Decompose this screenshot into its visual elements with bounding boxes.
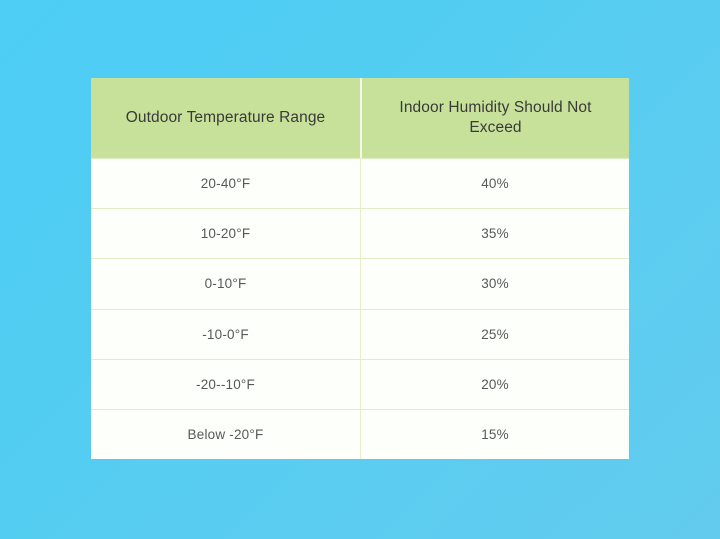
cell-humidity-value: 30% xyxy=(360,259,629,308)
humidity-guidance-table: Outdoor Temperature Range Indoor Humidit… xyxy=(91,78,629,459)
cell-temperature-range: 0-10°F xyxy=(91,259,360,308)
cell-temperature-range: -10-0°F xyxy=(91,310,360,359)
cell-temperature-range: 20-40°F xyxy=(91,159,360,208)
table-row: -20--10°F 20% xyxy=(91,359,629,409)
table-row: 20-40°F 40% xyxy=(91,158,629,208)
cell-temperature-range: Below -20°F xyxy=(91,410,360,459)
table-header-row: Outdoor Temperature Range Indoor Humidit… xyxy=(91,78,629,158)
cell-humidity-value: 25% xyxy=(360,310,629,359)
table-row: Below -20°F 15% xyxy=(91,409,629,459)
cell-humidity-value: 40% xyxy=(360,159,629,208)
table-row: 0-10°F 30% xyxy=(91,258,629,308)
table-row: -10-0°F 25% xyxy=(91,309,629,359)
column-header-indoor-humidity: Indoor Humidity Should Not Exceed xyxy=(360,78,629,158)
cell-humidity-value: 35% xyxy=(360,209,629,258)
slide-canvas: Outdoor Temperature Range Indoor Humidit… xyxy=(0,0,720,539)
cell-humidity-value: 20% xyxy=(360,360,629,409)
table-row: 10-20°F 35% xyxy=(91,208,629,258)
cell-temperature-range: 10-20°F xyxy=(91,209,360,258)
cell-temperature-range: -20--10°F xyxy=(91,360,360,409)
cell-humidity-value: 15% xyxy=(360,410,629,459)
column-header-outdoor-temperature-range: Outdoor Temperature Range xyxy=(91,78,360,158)
